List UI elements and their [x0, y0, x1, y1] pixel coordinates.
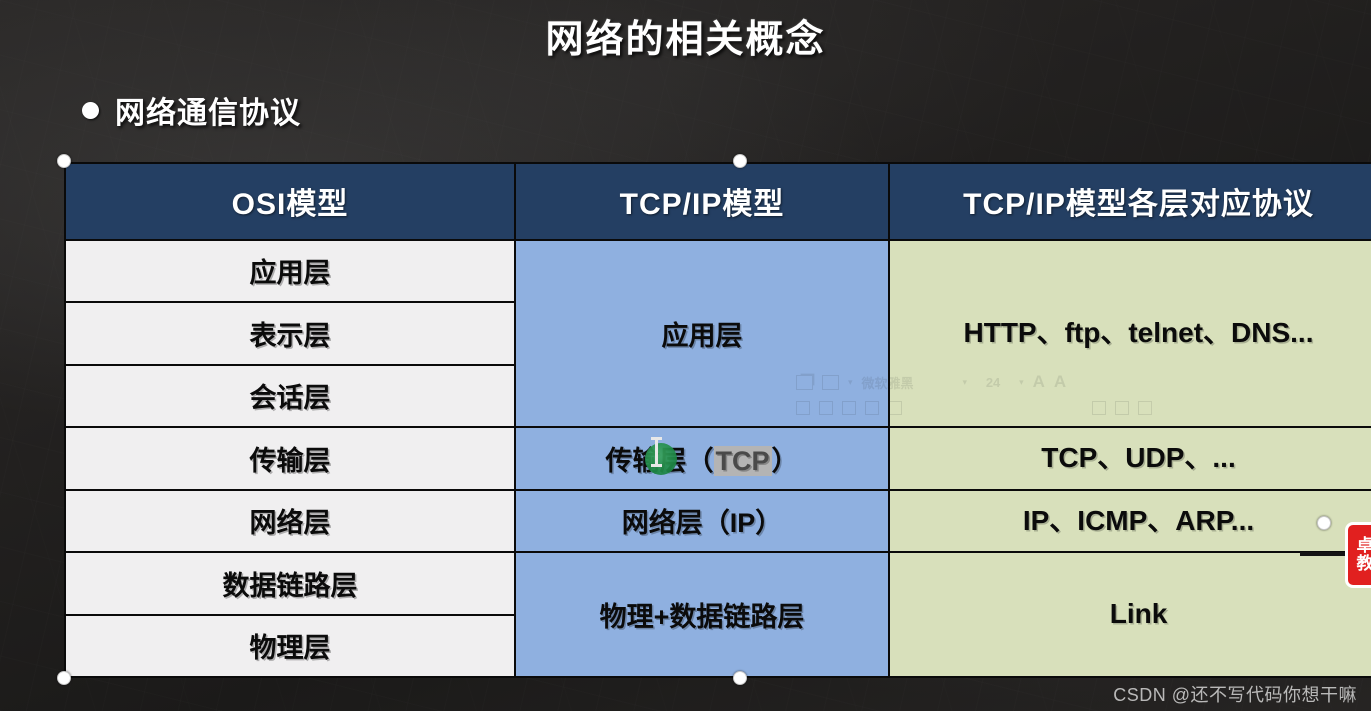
osi-layer-cell[interactable]: 会话层: [65, 365, 515, 427]
page-title: 网络的相关概念: [0, 8, 1371, 63]
slide-canvas: 网络的相关概念 网络通信协议 OSI模型 TCP/IP模型 TCP/IP模型各层…: [0, 0, 1371, 711]
protocol-cell-application[interactable]: HTTP、ftp、telnet、DNS...: [889, 240, 1371, 427]
osi-tcpip-table[interactable]: OSI模型 TCP/IP模型 TCP/IP模型各层对应协议 应用层 应用层 HT…: [64, 162, 1371, 678]
protocol-cell-internet[interactable]: IP、ICMP、ARP...: [889, 490, 1371, 552]
column-header-osi: OSI模型: [65, 163, 515, 240]
selection-handle-bottom-center[interactable]: [733, 671, 747, 685]
bullet-dot-icon: [82, 102, 99, 119]
text-cursor-icon: [655, 437, 658, 467]
transport-suffix: ）: [772, 446, 799, 476]
osi-layer-cell[interactable]: 网络层: [65, 490, 515, 552]
logo-badge: 卓 教: [1345, 522, 1371, 588]
watermark-text: CSDN @还不写代码你想干嘛: [1113, 681, 1357, 707]
protocol-cell-transport[interactable]: TCP、UDP、...: [889, 427, 1371, 489]
click-highlight-blob: [645, 443, 677, 475]
osi-layer-cell[interactable]: 表示层: [65, 302, 515, 364]
protocol-cell-link[interactable]: Link: [889, 552, 1371, 677]
osi-layer-cell[interactable]: 数据链路层: [65, 552, 515, 614]
badge-pointer-line: [1300, 552, 1348, 556]
table-row: 网络层 网络层（IP） IP、ICMP、ARP...: [65, 490, 1371, 552]
bullet-item-label: 网络通信协议: [115, 88, 301, 132]
osi-layer-cell[interactable]: 物理层: [65, 615, 515, 678]
table-row: 数据链路层 物理+数据链路层 Link: [65, 552, 1371, 614]
selection-handle-top-center[interactable]: [733, 154, 747, 168]
tcpip-layer-cell-link[interactable]: 物理+数据链路层: [515, 552, 889, 677]
osi-layer-cell[interactable]: 传输层: [65, 427, 515, 489]
logo-badge-line2: 教: [1357, 555, 1371, 573]
selection-handle-top-left[interactable]: [57, 154, 71, 168]
selected-text-tcp[interactable]: TCP: [714, 446, 772, 476]
tcpip-layer-cell-internet[interactable]: 网络层（IP）: [515, 490, 889, 552]
logo-badge-line1: 卓: [1357, 537, 1371, 555]
table-row: 传输层 传输层（TCP） TCP、UDP、...: [65, 427, 1371, 489]
bullet-item: 网络通信协议: [82, 88, 301, 132]
column-header-tcpip: TCP/IP模型: [515, 163, 889, 240]
table-header-row: OSI模型 TCP/IP模型 TCP/IP模型各层对应协议: [65, 163, 1371, 240]
tcpip-layer-cell-application[interactable]: 应用层: [515, 240, 889, 427]
selection-handle-bottom-left[interactable]: [57, 671, 71, 685]
tcpip-layer-cell-transport[interactable]: 传输层（TCP）: [515, 427, 889, 489]
osi-layer-cell[interactable]: 应用层: [65, 240, 515, 302]
table-row: 应用层 应用层 HTTP、ftp、telnet、DNS...: [65, 240, 1371, 302]
selection-handle-right[interactable]: [1317, 516, 1331, 530]
column-header-protocol: TCP/IP模型各层对应协议: [889, 163, 1371, 240]
